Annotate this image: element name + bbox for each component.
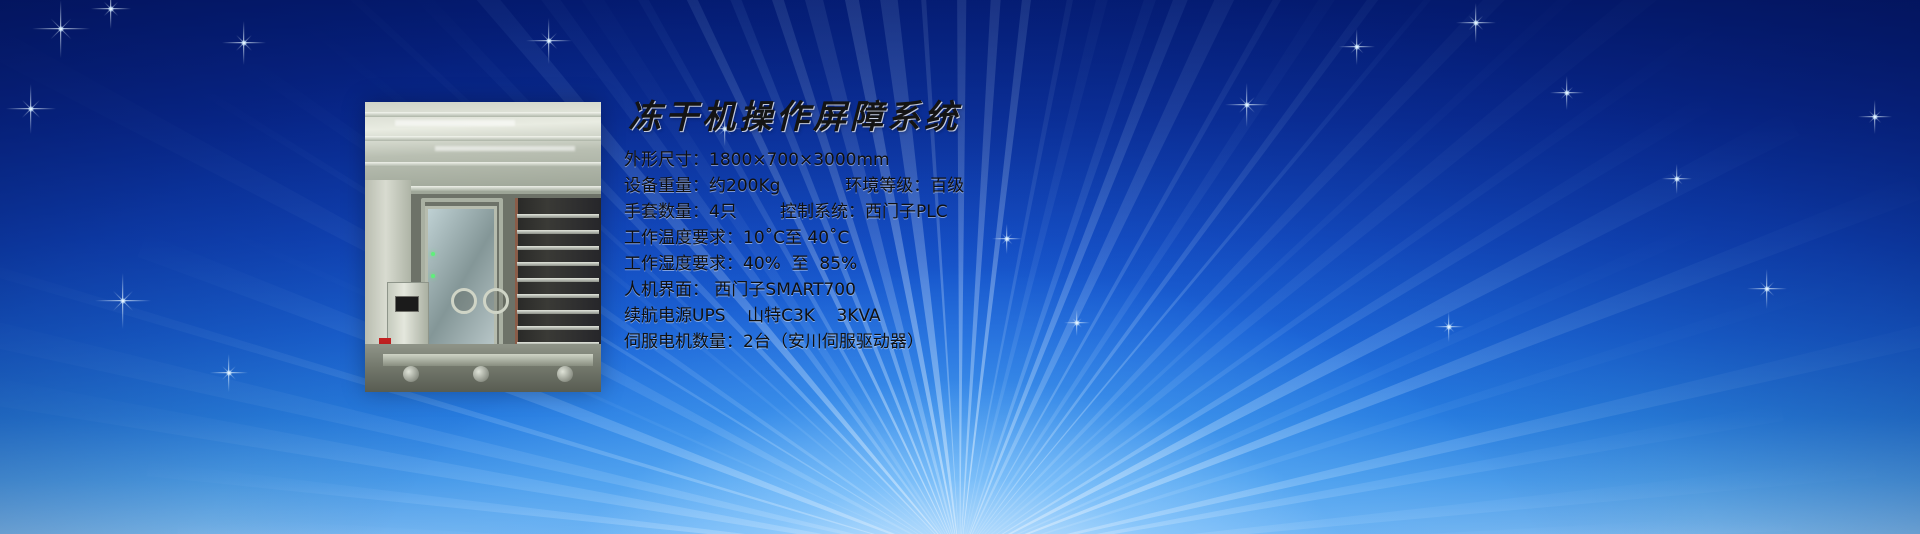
spec-line: 设备重量：约200Kg 环境等级：百级 — [624, 173, 1320, 199]
sparkle-star-icon — [1766, 288, 1767, 289]
banner-text-block: 冻干机操作屏障系统 外形尺寸：1800×700×3000mm设备重量：约200K… — [620, 100, 1320, 355]
spec-line: 续航电源UPS 山特C3K 3KVA — [624, 303, 1320, 329]
sparkle-star-icon — [30, 108, 31, 109]
spec-line: 人机界面： 西门子SMART700 — [624, 277, 1320, 303]
spec-line: 伺服电机数量：2台（安川伺服驱动器） — [624, 329, 1320, 355]
sparkle-star-icon — [60, 28, 61, 29]
page-title: 冻干机操作屏障系统 — [628, 100, 1320, 133]
sparkle-star-icon — [110, 8, 111, 9]
sparkle-star-icon — [122, 300, 123, 301]
spec-list: 外形尺寸：1800×700×3000mm设备重量：约200Kg 环境等级：百级手… — [624, 147, 1320, 355]
sparkle-star-icon — [1448, 326, 1449, 327]
sparkle-star-icon — [1356, 46, 1357, 47]
product-photo — [365, 102, 601, 392]
spec-line: 工作温度要求：10˚C至 40˚C — [624, 225, 1320, 251]
sparkle-star-icon — [243, 42, 244, 43]
sparkle-star-icon — [1475, 22, 1476, 23]
promo-banner: 冻干机操作屏障系统 外形尺寸：1800×700×3000mm设备重量：约200K… — [0, 0, 1920, 534]
spec-line: 外形尺寸：1800×700×3000mm — [624, 147, 1320, 173]
sparkle-star-icon — [1676, 178, 1677, 179]
sparkle-star-icon — [228, 372, 229, 373]
spec-line: 工作湿度要求：40% 至 85% — [624, 251, 1320, 277]
sparkle-star-icon — [1566, 92, 1567, 93]
sparkle-star-icon — [548, 40, 549, 41]
spec-line: 手套数量：4只 控制系统：西门子PLC — [624, 199, 1320, 225]
sparkle-star-icon — [1874, 116, 1875, 117]
